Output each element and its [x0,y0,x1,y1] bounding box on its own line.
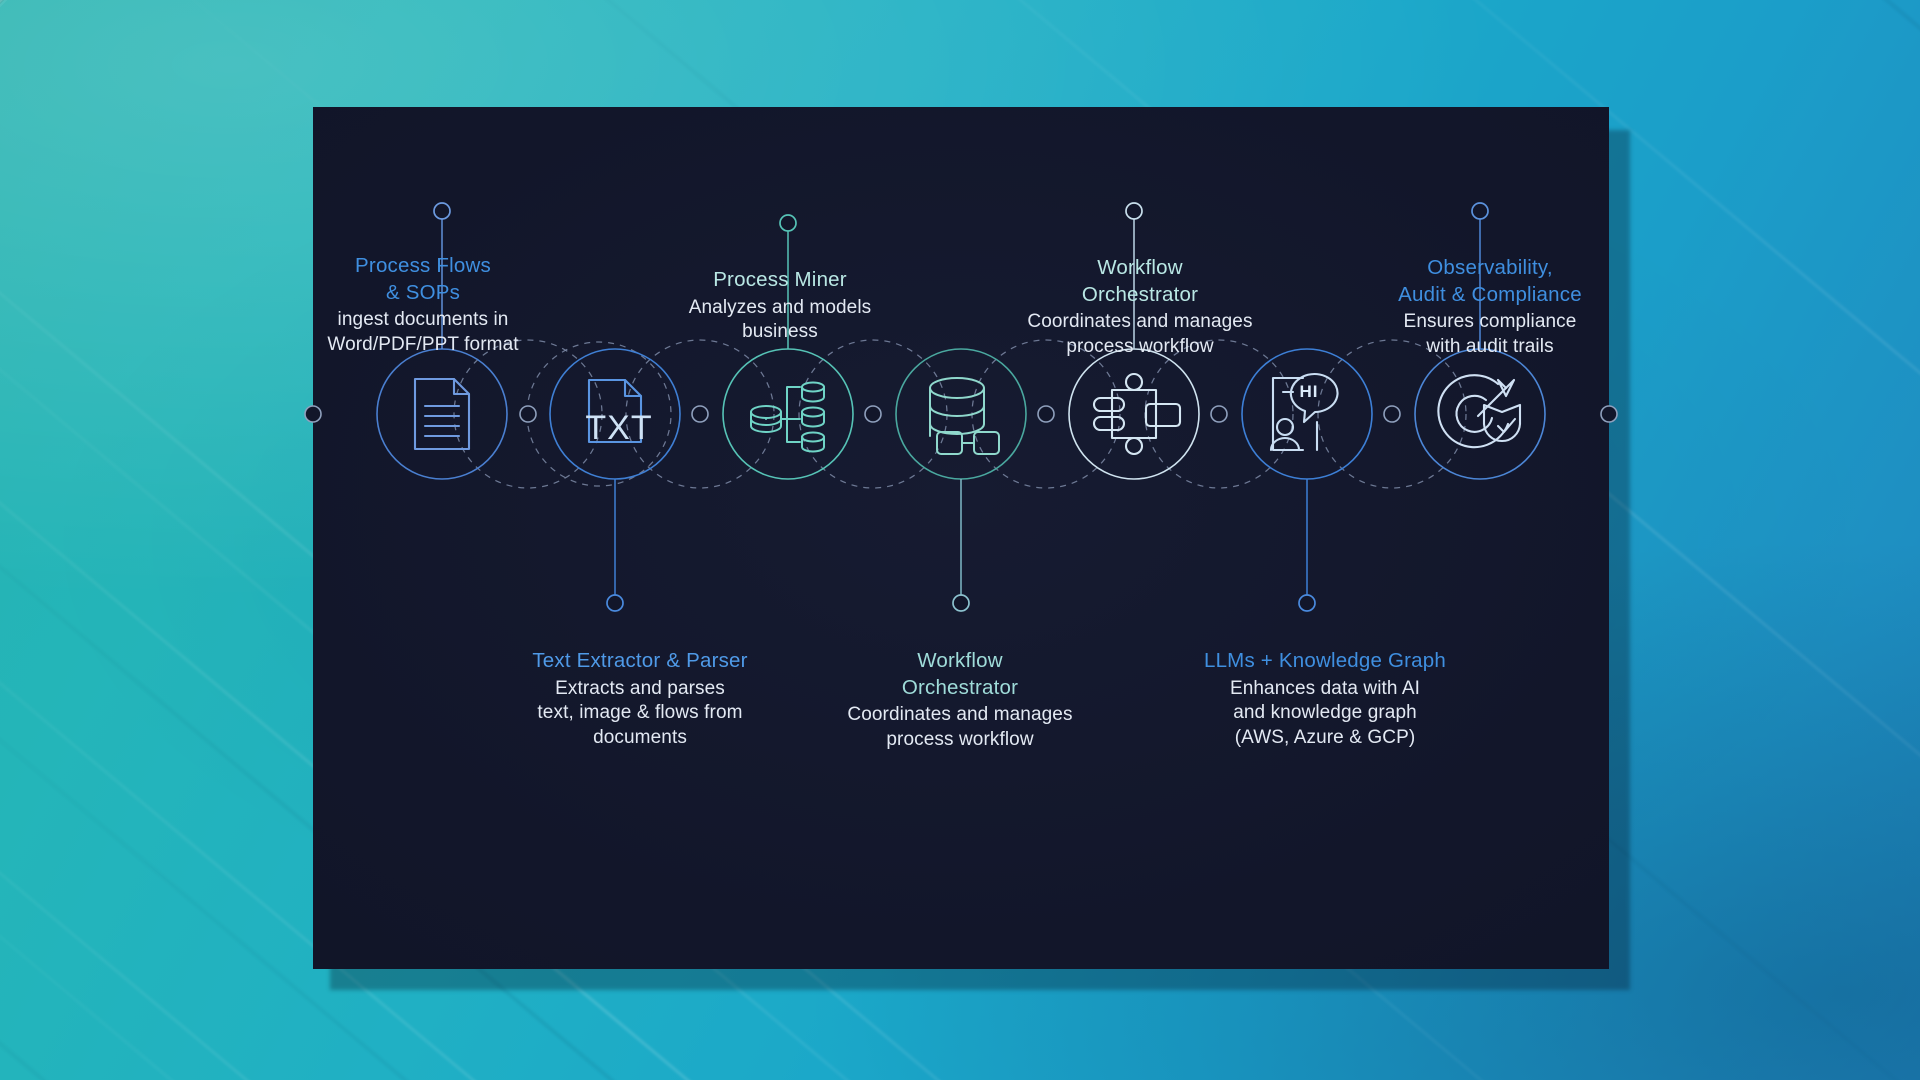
title-line: Process Miner [650,267,910,294]
screenshot-root: .ring{fill:none;stroke-width:1.6;} .dash… [0,0,1920,1080]
desc-line: process workflow [815,728,1105,753]
desc-line: Analyzes and models [650,296,910,321]
label-text-extractor-parser: Text Extractor & Parser Extracts and par… [485,648,795,751]
desc-line: ingest documents in [288,308,558,333]
chat-bubble-label: HI [1300,382,1319,401]
txt-file-icon: TXT [585,380,652,447]
desc-line: with audit trails [1340,335,1640,360]
title-line: Orchestrator [1000,282,1280,309]
desc-line: business [650,320,910,345]
database-nodes-icon [930,378,999,454]
desc-line: and knowledge graph [1165,701,1485,726]
title-line: Workflow [1000,255,1280,282]
desc-line: text, image & flows from [485,701,795,726]
document-icon [415,379,469,449]
desc-line: Enhances data with AI [1165,677,1485,702]
desc-line: Coordinates and manages [815,703,1105,728]
title-line: Text Extractor & Parser [485,648,795,675]
title-line: Orchestrator [815,675,1105,702]
txt-file-label: TXT [585,409,652,447]
label-llms-knowledge-graph: LLMs + Knowledge Graph Enhances data wit… [1165,648,1485,751]
desc-line: Ensures compliance [1340,310,1640,335]
label-observability-audit-compliance: Observability, Audit & Compliance Ensure… [1340,255,1640,360]
chat-person-icon: HI [1271,374,1338,450]
database-tree-icon [751,383,824,452]
title-line: Workflow [815,648,1105,675]
title-line: LLMs + Knowledge Graph [1165,648,1485,675]
workflow-node-icon [1094,374,1180,454]
desc-line: (AWS, Azure & GCP) [1165,726,1485,751]
label-workflow-orchestrator-bottom: Workflow Orchestrator Coordinates and ma… [815,648,1105,753]
connector-joints [305,406,1617,422]
desc-line: process workflow [1000,335,1280,360]
desc-line: Extracts and parses [485,677,795,702]
pipeline-diagram: .ring{fill:none;stroke-width:1.6;} .dash… [313,107,1609,969]
label-process-miner: Process Miner Analyzes and models busine… [650,267,910,345]
target-shield-icon [1438,375,1520,447]
label-process-flows-sops: Process Flows & SOPs ingest documents in… [288,253,558,358]
title-line: Process Flows [288,253,558,280]
desc-line: Word/PDF/PPT format [288,333,558,358]
title-line: Audit & Compliance [1340,282,1640,309]
desc-line: documents [485,726,795,751]
node-rings [377,349,1545,479]
title-line: & SOPs [288,280,558,307]
desc-line: Coordinates and manages [1000,310,1280,335]
label-workflow-orchestrator-top: Workflow Orchestrator Coordinates and ma… [1000,255,1280,360]
title-line: Observability, [1340,255,1640,282]
